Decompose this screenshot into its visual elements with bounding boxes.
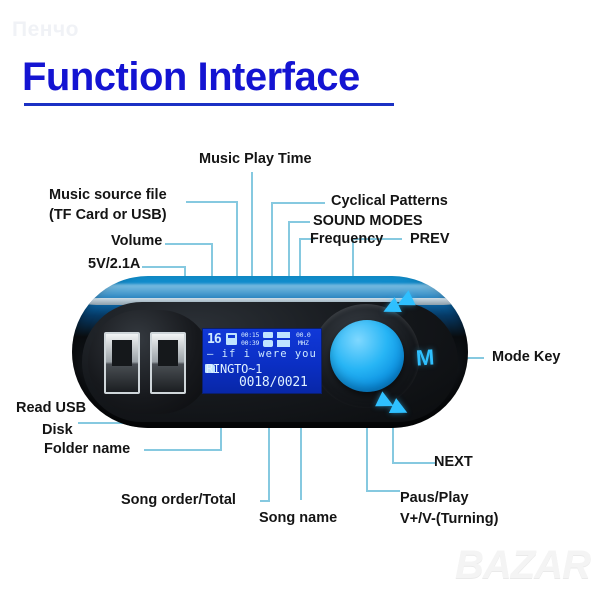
- watermark-bazar: BAZAR: [455, 543, 590, 588]
- label-song-order-total: Song order/Total: [121, 491, 236, 509]
- leader-next-h: [392, 462, 436, 464]
- cyclical-pattern-icon: [263, 332, 273, 338]
- label-prev: PREV: [410, 230, 450, 248]
- leader-folder-h: [144, 449, 222, 451]
- lcd-frequency: 00.0 MHZ: [296, 331, 310, 347]
- leader-pause-play-h: [366, 490, 400, 492]
- lcd-frequency-unit: MHZ: [298, 339, 309, 347]
- leader-pause-play-v: [366, 424, 368, 491]
- lcd-folder-name: RINGTO~1: [206, 362, 262, 376]
- label-volume: Volume: [111, 232, 162, 250]
- label-power: 5V/2.1A: [88, 255, 140, 273]
- sound-mode-icon: [277, 332, 290, 338]
- label-frequency: Frequency: [310, 230, 383, 248]
- equalizer-icon: [277, 340, 290, 347]
- usb-port-1[interactable]: [104, 332, 140, 394]
- label-next: NEXT: [434, 453, 473, 471]
- label-song-name: Song name: [259, 509, 337, 527]
- label-mode-key: Mode Key: [492, 348, 561, 366]
- lcd-frequency-value: 00.0: [296, 331, 310, 339]
- label-sound-modes: SOUND MODES: [313, 212, 423, 230]
- lcd-elapsed: 00:15: [241, 331, 259, 339]
- leader-volume-h: [165, 243, 213, 245]
- label-music-play-time: Music Play Time: [199, 150, 312, 168]
- leader-cyclical-h: [271, 202, 325, 204]
- label-music-source-file-1: Music source file: [49, 186, 167, 204]
- tf-card-icon: [226, 333, 237, 345]
- watermark-penco: Пенчо: [12, 18, 79, 42]
- mode-button-icon[interactable]: M: [415, 344, 435, 371]
- repeat-mode-icon: [263, 340, 273, 347]
- lcd-display: 16 00:15 00:39 00.0 MHZ — if i were you …: [202, 328, 322, 394]
- usb-port-2[interactable]: [150, 332, 186, 394]
- lcd-song-marquee: — if i were you: [207, 348, 319, 360]
- label-disk: Disk: [42, 421, 73, 439]
- leader-power-h: [142, 266, 186, 268]
- label-read-usb: Read USB: [16, 399, 86, 417]
- label-folder-name: Folder name: [44, 440, 130, 458]
- page-title: Function Interface: [22, 55, 360, 100]
- lcd-song-order: 0018/0021: [239, 375, 308, 390]
- label-cyclical-patterns: Cyclical Patterns: [331, 192, 448, 210]
- label-music-source-file-2: (TF Card or USB): [49, 206, 167, 224]
- lcd-play-time: 00:15 00:39: [241, 331, 259, 347]
- lcd-status-row: 16 00:15 00:39 00.0 MHZ: [206, 331, 319, 349]
- title-underline: [24, 103, 394, 106]
- leader-music-source-h: [186, 201, 238, 203]
- volume-knob[interactable]: [330, 320, 404, 392]
- lcd-track-number: 16: [207, 332, 221, 347]
- leader-sound-modes-h: [288, 221, 310, 223]
- label-pause-play: Paus/Play: [400, 489, 469, 507]
- lcd-total: 00:39: [241, 339, 259, 347]
- screenshot-canvas: Пенчо BAZAR Function Interface: [0, 0, 600, 600]
- label-volume-turning: V+/V-(Turning): [400, 510, 498, 528]
